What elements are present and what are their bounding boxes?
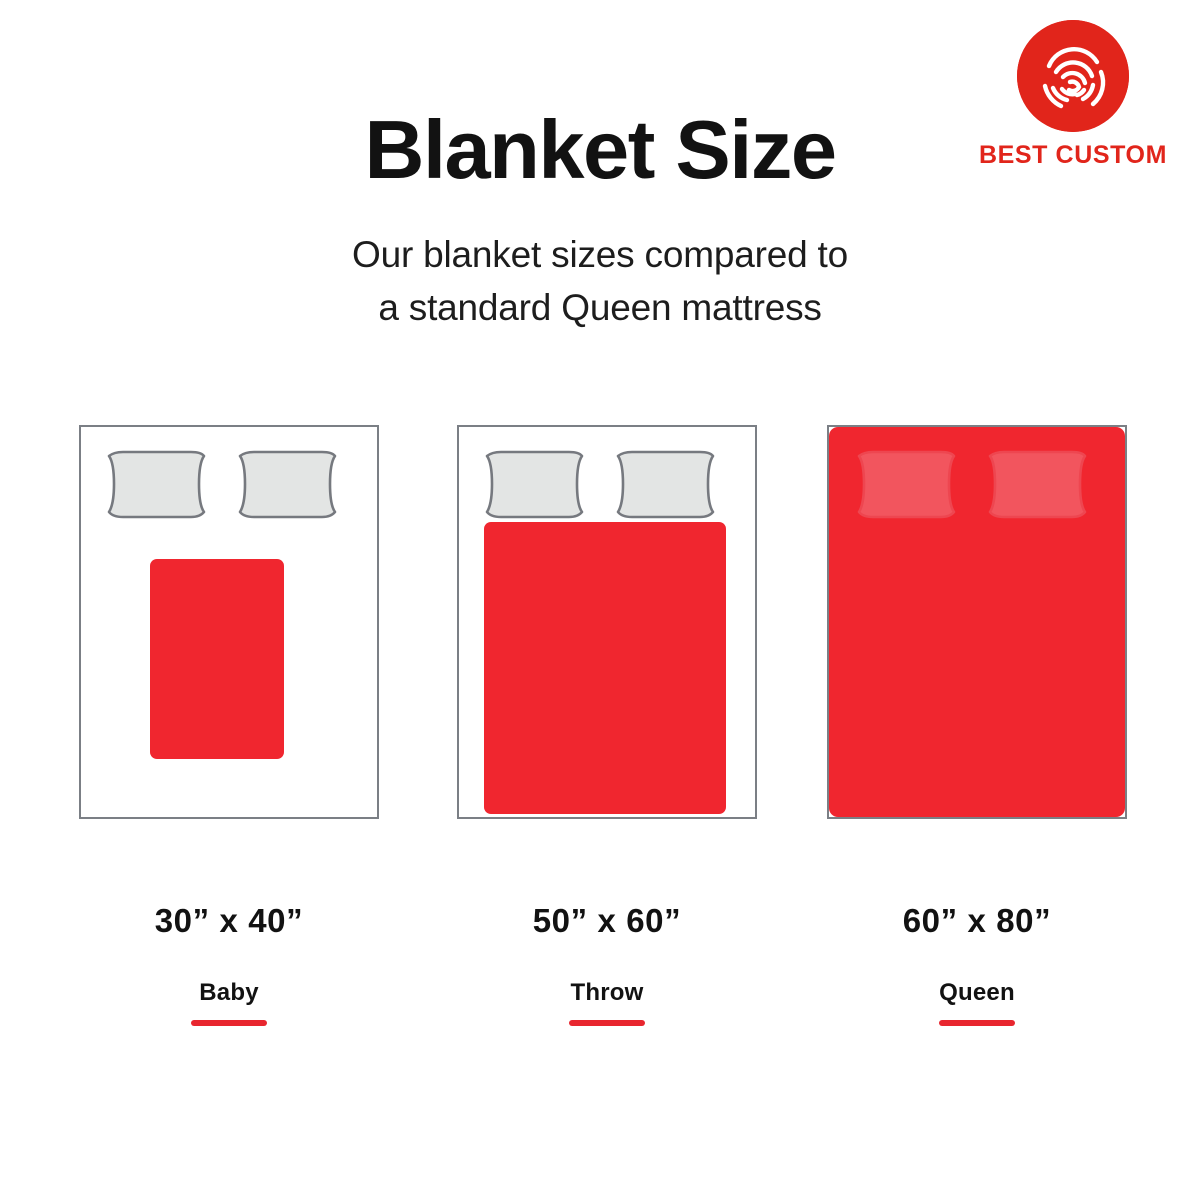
bed-caption-throw: 50” x 60” Throw: [457, 902, 757, 1026]
subtitle-line-2: a standard Queen mattress: [0, 281, 1200, 334]
size-dimensions-label: 60” x 80”: [827, 902, 1127, 940]
bed-caption-queen: 60” x 80” Queen: [827, 902, 1127, 1026]
bed-diagram-throw: [457, 425, 757, 819]
infographic-canvas: BEST CUSTOM Blanket Size Our blanket siz…: [0, 0, 1200, 1200]
bed-caption-baby: 30” x 40” Baby: [79, 902, 379, 1026]
accent-underline: [569, 1020, 645, 1026]
accent-underline: [191, 1020, 267, 1026]
bed-diagram-queen: [827, 425, 1127, 819]
size-dimensions-label: 30” x 40”: [79, 902, 379, 940]
accent-underline: [939, 1020, 1015, 1026]
pillow-icon: [853, 447, 960, 521]
bed-diagram-baby: [79, 425, 379, 819]
blanket-shape-baby: [150, 559, 284, 759]
page-title: Blanket Size: [0, 103, 1200, 197]
blanket-shape-throw: [484, 522, 726, 814]
size-name-label: Throw: [457, 979, 757, 1007]
page-subtitle: Our blanket sizes compared to a standard…: [0, 228, 1200, 334]
pillow-icon: [612, 447, 719, 521]
subtitle-line-1: Our blanket sizes compared to: [0, 228, 1200, 281]
blanket-shape-queen: [829, 427, 1125, 817]
size-name-label: Baby: [79, 979, 379, 1007]
bed-diagram-group: [0, 425, 1200, 825]
pillow-icon: [984, 447, 1091, 521]
size-dimensions-label: 50” x 60”: [457, 902, 757, 940]
size-name-label: Queen: [827, 979, 1127, 1007]
pillow-icon: [234, 447, 341, 521]
pillow-icon: [103, 447, 210, 521]
pillow-icon: [481, 447, 588, 521]
